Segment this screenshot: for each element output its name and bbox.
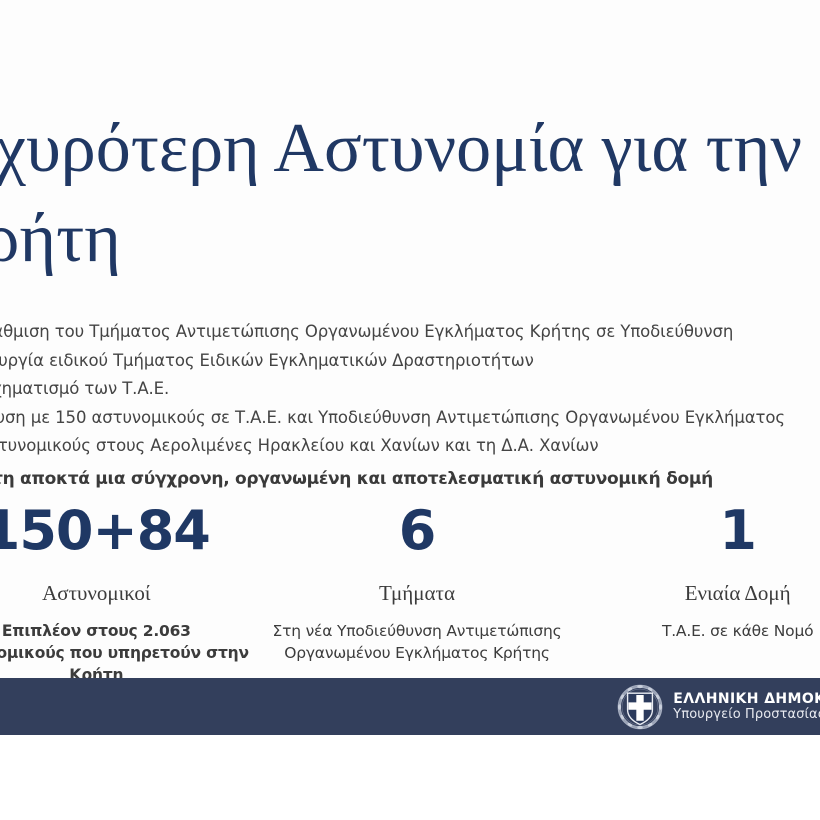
page-title: Ισχυρότερη Αστυνομία για την Κρήτη	[0, 104, 820, 283]
stat-column-2: 6 Τμήματα Στη νέα Υποδιεύθυνση Αντιμετώπ…	[257, 504, 578, 664]
footer-bar: ΕΛΛΗΝΙΚΗ ΔΗΜΟΚΡΑΤΙΑ Υπουργείο Προστασίας…	[0, 678, 820, 735]
stat-label: Τμήματα	[263, 580, 572, 606]
stat-value: 150+84	[0, 504, 251, 558]
body-line: • Αναβάθμιση του Τμήματος Αντιμετώπισης …	[0, 318, 820, 347]
highlight-statement: Η Κρήτη αποκτά μια σύγχρονη, οργανωμένη …	[0, 469, 713, 489]
footer-republic-label: ΕΛΛΗΝΙΚΗ ΔΗΜΟΚΡΑΤΙΑ	[673, 691, 820, 708]
stats-row: 150+84 Αστυνομικοί Επιπλέον στους 2.063 …	[0, 504, 820, 686]
stat-label: Ενιαία Δομή	[583, 580, 820, 606]
stat-column-3: 1 Ενιαία Δομή Τ.Α.Ε. σε κάθε Νομό	[577, 504, 820, 642]
stat-value: 6	[263, 504, 572, 558]
body-line: • Ανασχηματισμό των Τ.Α.Ε.	[0, 375, 820, 404]
footer-ministry-label: Υπουργείο Προστασίας του Πολίτη	[673, 707, 820, 722]
stat-label: Αστυνομικοί	[0, 580, 251, 606]
stat-column-1: 150+84 Αστυνομικοί Επιπλέον στους 2.063 …	[0, 504, 257, 686]
stat-value: 1	[583, 504, 820, 558]
slide-canvas: Ισχυρότερη Αστυνομία για την Κρήτη • Ανα…	[0, 0, 820, 820]
footer-text-block: ΕΛΛΗΝΙΚΗ ΔΗΜΟΚΡΑΤΙΑ Υπουργείο Προστασίας…	[673, 691, 820, 723]
stat-description: Στη νέα Υποδιεύθυνση Αντιμετώπισης Οργαν…	[263, 620, 572, 664]
body-line: • 84 αστυνομικούς στους Αερολιμένες Ηρακ…	[0, 432, 820, 461]
footer-brand: ΕΛΛΗΝΙΚΗ ΔΗΜΟΚΡΑΤΙΑ Υπουργείο Προστασίας…	[617, 684, 820, 730]
greek-coat-of-arms-icon	[617, 684, 663, 730]
body-line: • Ενίσχυση με 150 αστυνομικούς σε Τ.Α.Ε.…	[0, 404, 820, 433]
stat-description: Επιπλέον στους 2.063 αστυνομικούς που υπ…	[0, 620, 251, 686]
body-text-block: • Αναβάθμιση του Τμήματος Αντιμετώπισης …	[0, 318, 820, 461]
title-block: Ισχυρότερη Αστυνομία για την Κρήτη	[0, 104, 820, 283]
stat-description: Τ.Α.Ε. σε κάθε Νομό	[583, 620, 820, 642]
slide-bottom-margin	[0, 735, 820, 820]
body-line: • Δημιουργία ειδικού Τμήματος Ειδικών Εγ…	[0, 347, 820, 376]
